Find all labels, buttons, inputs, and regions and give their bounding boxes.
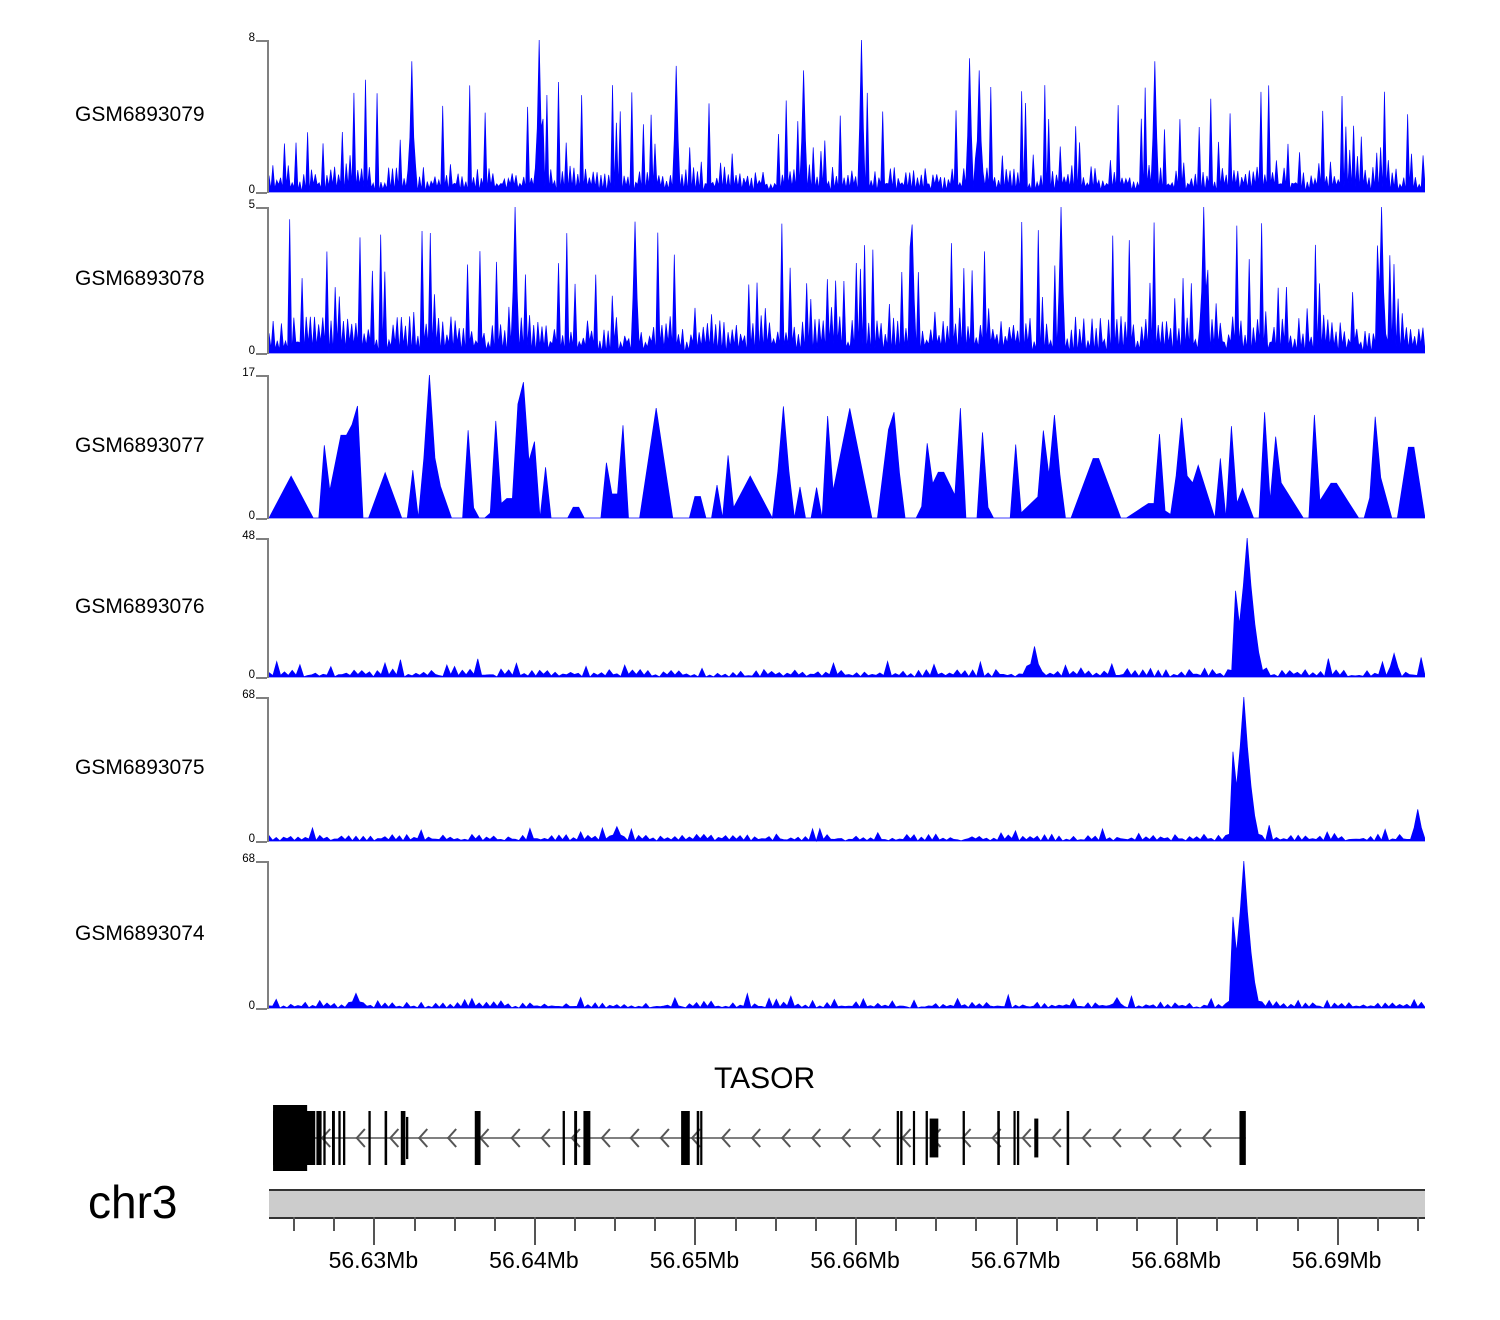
axis-max-gsm6893077: 17 — [215, 367, 255, 379]
axis-tick-max — [256, 697, 267, 699]
axis-min-gsm6893074: 0 — [215, 1000, 255, 1012]
axis-minor-tick — [895, 1217, 897, 1231]
axis-max-gsm6893075: 68 — [215, 689, 255, 701]
coverage-plot-gsm6893079[interactable] — [269, 40, 1425, 193]
axis-tick-max — [256, 538, 267, 540]
gene-exon — [583, 1111, 590, 1165]
axis-minor-tick — [775, 1217, 777, 1231]
axis-tick-min — [256, 518, 267, 520]
axis-tick-label: 56.64Mb — [489, 1247, 579, 1274]
axis-tick-max — [256, 861, 267, 863]
axis-tick-label: 56.69Mb — [1292, 1247, 1382, 1274]
axis-min-gsm6893079: 0 — [215, 184, 255, 196]
axis-major-tick — [1176, 1217, 1178, 1245]
axis-minor-tick — [1136, 1217, 1138, 1231]
axis-max-gsm6893079: 8 — [215, 32, 255, 44]
axis-major-tick — [373, 1217, 375, 1245]
gene-exon — [1067, 1111, 1070, 1165]
gene-exon — [563, 1111, 565, 1165]
gene-annotation-track: TASOR — [269, 1100, 1425, 1180]
axis-major-tick — [855, 1217, 857, 1245]
gene-exon — [406, 1117, 408, 1159]
coverage-plot-gsm6893077[interactable] — [269, 375, 1425, 519]
coverage-plot-gsm6893076[interactable] — [269, 538, 1425, 678]
gene-exon — [385, 1111, 388, 1165]
axis-minor-tick — [735, 1217, 737, 1231]
gene-exon — [332, 1111, 335, 1165]
gene-exon — [700, 1111, 702, 1165]
axis-tick-max — [256, 207, 267, 209]
axis-minor-tick — [494, 1217, 496, 1231]
coverage-plot-gsm6893075[interactable] — [269, 697, 1425, 842]
axis-tick-max — [256, 40, 267, 42]
gene-exon — [368, 1111, 370, 1165]
axis-min-gsm6893078: 0 — [215, 345, 255, 357]
gene-exon — [401, 1111, 406, 1165]
gene-exon — [1017, 1111, 1019, 1165]
track-label-gsm6893078: GSM6893078 — [75, 267, 205, 291]
gene-exon — [1239, 1111, 1245, 1165]
gene-exon — [574, 1111, 577, 1165]
axis-tick-min — [256, 1008, 267, 1010]
axis-major-tick — [534, 1217, 536, 1245]
axis-major-tick — [1337, 1217, 1339, 1245]
axis-major-tick — [694, 1217, 696, 1245]
axis-major-tick — [1016, 1217, 1018, 1245]
axis-minor-tick — [1377, 1217, 1379, 1231]
axis-tick-label: 56.65Mb — [650, 1247, 740, 1274]
track-label-gsm6893074: GSM6893074 — [75, 922, 205, 946]
gene-utr-block — [273, 1105, 307, 1171]
axis-minor-tick — [414, 1217, 416, 1231]
axis-minor-tick — [614, 1217, 616, 1231]
gene-model-svg[interactable] — [269, 1100, 1425, 1180]
genome-browser: GSM689307980GSM689307850GSM6893077170GSM… — [0, 0, 1500, 1320]
gene-exon — [930, 1119, 939, 1158]
axis-minor-tick — [293, 1217, 295, 1231]
axis-tick-min — [256, 353, 267, 355]
axis-minor-tick — [1096, 1217, 1098, 1231]
axis-minor-tick — [574, 1217, 576, 1231]
axis-minor-tick — [454, 1217, 456, 1231]
coverage-plot-gsm6893074[interactable] — [269, 861, 1425, 1009]
axis-minor-tick — [333, 1217, 335, 1231]
axis-minor-tick — [1256, 1217, 1258, 1231]
gene-exon — [926, 1111, 928, 1165]
track-label-gsm6893079: GSM6893079 — [75, 103, 205, 127]
gene-exon — [343, 1111, 345, 1165]
axis-tick-label: 56.67Mb — [971, 1247, 1061, 1274]
axis-minor-tick — [975, 1217, 977, 1231]
genome-axis-bar[interactable] — [269, 1189, 1425, 1219]
axis-min-gsm6893076: 0 — [215, 669, 255, 681]
gene-exon — [1013, 1111, 1015, 1165]
gene-name-label: TASOR — [714, 1062, 815, 1096]
axis-tick-min — [256, 677, 267, 679]
axis-tick-min — [256, 192, 267, 194]
gene-exon — [1034, 1119, 1038, 1158]
axis-tick-label: 56.63Mb — [329, 1247, 419, 1274]
gene-exon — [963, 1111, 965, 1165]
track-label-gsm6893076: GSM6893076 — [75, 595, 205, 619]
axis-tick-min — [256, 841, 267, 843]
axis-min-gsm6893077: 0 — [215, 510, 255, 522]
coverage-plot-gsm6893078[interactable] — [269, 207, 1425, 354]
chromosome-label: chr3 — [88, 1175, 177, 1229]
gene-exon — [316, 1111, 321, 1165]
axis-max-gsm6893076: 48 — [215, 530, 255, 542]
axis-minor-tick — [1417, 1217, 1419, 1231]
gene-exon — [681, 1111, 690, 1165]
axis-minor-tick — [815, 1217, 817, 1231]
gene-exon — [913, 1111, 915, 1165]
axis-max-gsm6893074: 68 — [215, 853, 255, 865]
gene-exon — [475, 1111, 481, 1165]
axis-tick-max — [256, 375, 267, 377]
gene-exon — [900, 1111, 902, 1165]
axis-tick-label: 56.68Mb — [1131, 1247, 1221, 1274]
gene-exon — [338, 1111, 340, 1165]
gene-exon — [997, 1111, 1000, 1165]
axis-minor-tick — [935, 1217, 937, 1231]
axis-tick-label: 56.66Mb — [810, 1247, 900, 1274]
axis-max-gsm6893078: 5 — [215, 199, 255, 211]
axis-minor-tick — [1056, 1217, 1058, 1231]
gene-exon — [323, 1111, 325, 1165]
axis-min-gsm6893075: 0 — [215, 833, 255, 845]
axis-minor-tick — [1216, 1217, 1218, 1231]
axis-minor-tick — [1297, 1217, 1299, 1231]
gene-exon — [897, 1111, 899, 1165]
axis-minor-tick — [654, 1217, 656, 1231]
track-label-gsm6893075: GSM6893075 — [75, 756, 205, 780]
gene-exon — [697, 1111, 700, 1165]
track-label-gsm6893077: GSM6893077 — [75, 434, 205, 458]
